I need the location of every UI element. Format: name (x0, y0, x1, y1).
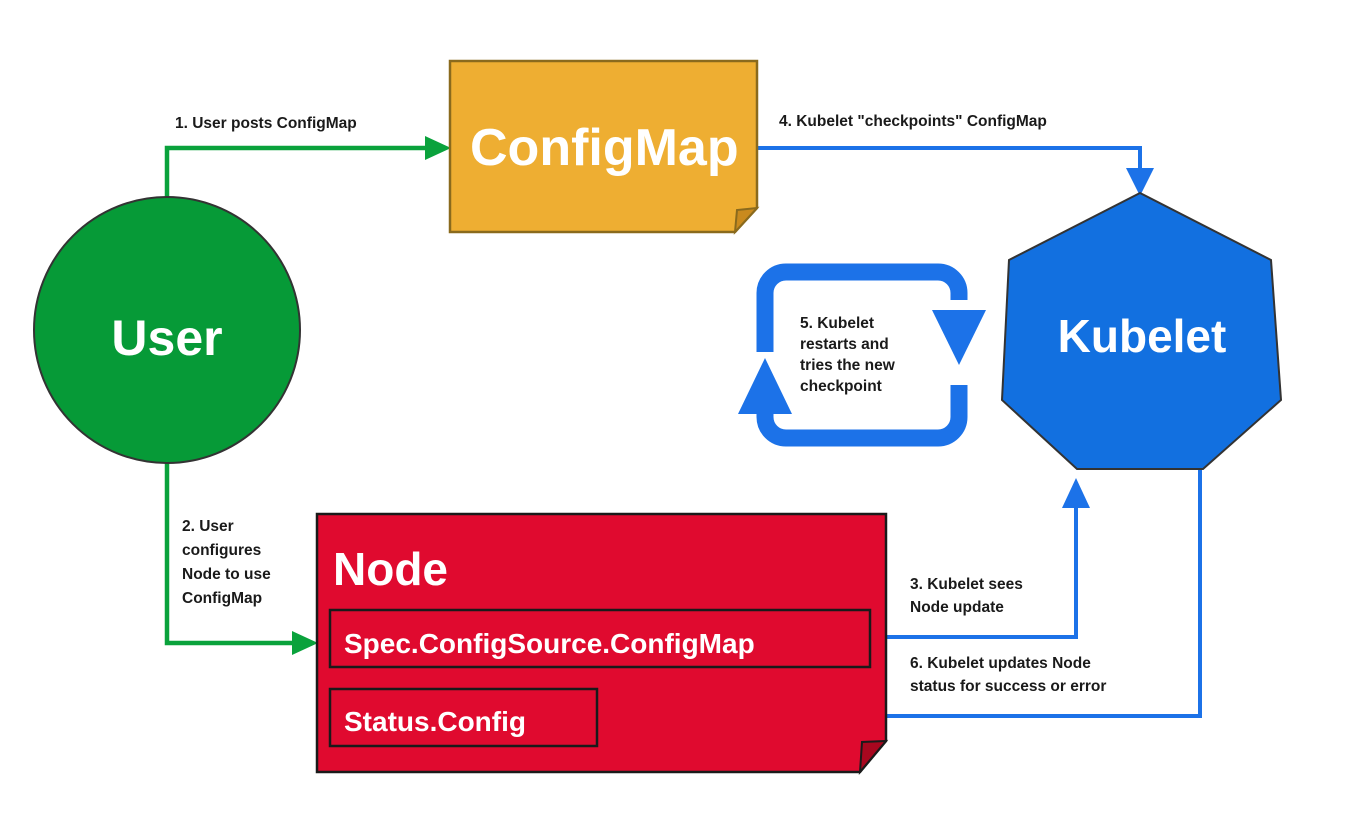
edge-4-path (757, 148, 1140, 178)
configmap-fold-corner-icon (735, 208, 757, 232)
node-node[interactable]: Node Spec.ConfigSource.ConfigMap Status.… (317, 514, 886, 772)
node-user[interactable]: User (34, 197, 300, 463)
spec-field-label: Spec.ConfigSource.ConfigMap (344, 628, 755, 659)
node-label: Node (333, 543, 448, 595)
node-fold-corner-icon (860, 741, 886, 772)
kubelet-config-diagram: ConfigMap Node Spec.ConfigSource.ConfigM… (0, 0, 1360, 818)
edge-2-label: 2. User configures Node to use ConfigMap (182, 518, 271, 607)
edge-2-arrowhead (292, 631, 318, 655)
edge-4-label: 4. Kubelet "checkpoints" ConfigMap (779, 113, 1047, 130)
node-configmap[interactable]: ConfigMap (450, 61, 757, 232)
edge-5-restart-loop: 5. Kubelet restarts and tries the new ch… (738, 272, 986, 438)
restart-loop-down-arrowhead (932, 310, 986, 365)
edge-1-label: 1. User posts ConfigMap (175, 115, 357, 132)
edge-3-label: 3. Kubelet sees Node update (910, 576, 1023, 616)
diagram-canvas: ConfigMap Node Spec.ConfigSource.ConfigM… (0, 0, 1360, 818)
edge-6-label-line-1: 6. Kubelet updates Node (910, 655, 1091, 672)
edge-5-label-line-4: checkpoint (800, 378, 882, 395)
edge-6-label: 6. Kubelet updates Node status for succe… (910, 655, 1106, 695)
node-kubelet[interactable]: Kubelet (1002, 193, 1281, 469)
configmap-label: ConfigMap (470, 119, 739, 177)
status-field-label: Status.Config (344, 706, 526, 737)
restart-loop-up-arrowhead (738, 358, 792, 414)
edge-4-arrowhead (1126, 168, 1154, 196)
edge-5-label-line-2: restarts and (800, 336, 889, 353)
edge-3-path (870, 500, 1076, 637)
edge-1-arrowhead (425, 136, 451, 160)
edge-3-label-line-2: Node update (910, 599, 1004, 616)
edge-5-label-line-1: 5. Kubelet (800, 315, 874, 332)
edge-4-kubelet-checkpoints-configmap (757, 148, 1154, 196)
edge-2-label-line-1: 2. User (182, 518, 234, 535)
user-label: User (111, 310, 222, 366)
kubelet-label: Kubelet (1058, 310, 1227, 362)
edge-6-label-line-2: status for success or error (910, 678, 1106, 695)
edge-5-label-line-3: tries the new (800, 357, 896, 374)
edge-3-arrowhead (1062, 478, 1090, 508)
edge-2-label-line-2: configures (182, 542, 261, 559)
edge-2-label-line-3: Node to use (182, 566, 271, 583)
edge-3-label-line-1: 3. Kubelet sees (910, 576, 1023, 593)
edge-2-label-line-4: ConfigMap (182, 590, 262, 607)
